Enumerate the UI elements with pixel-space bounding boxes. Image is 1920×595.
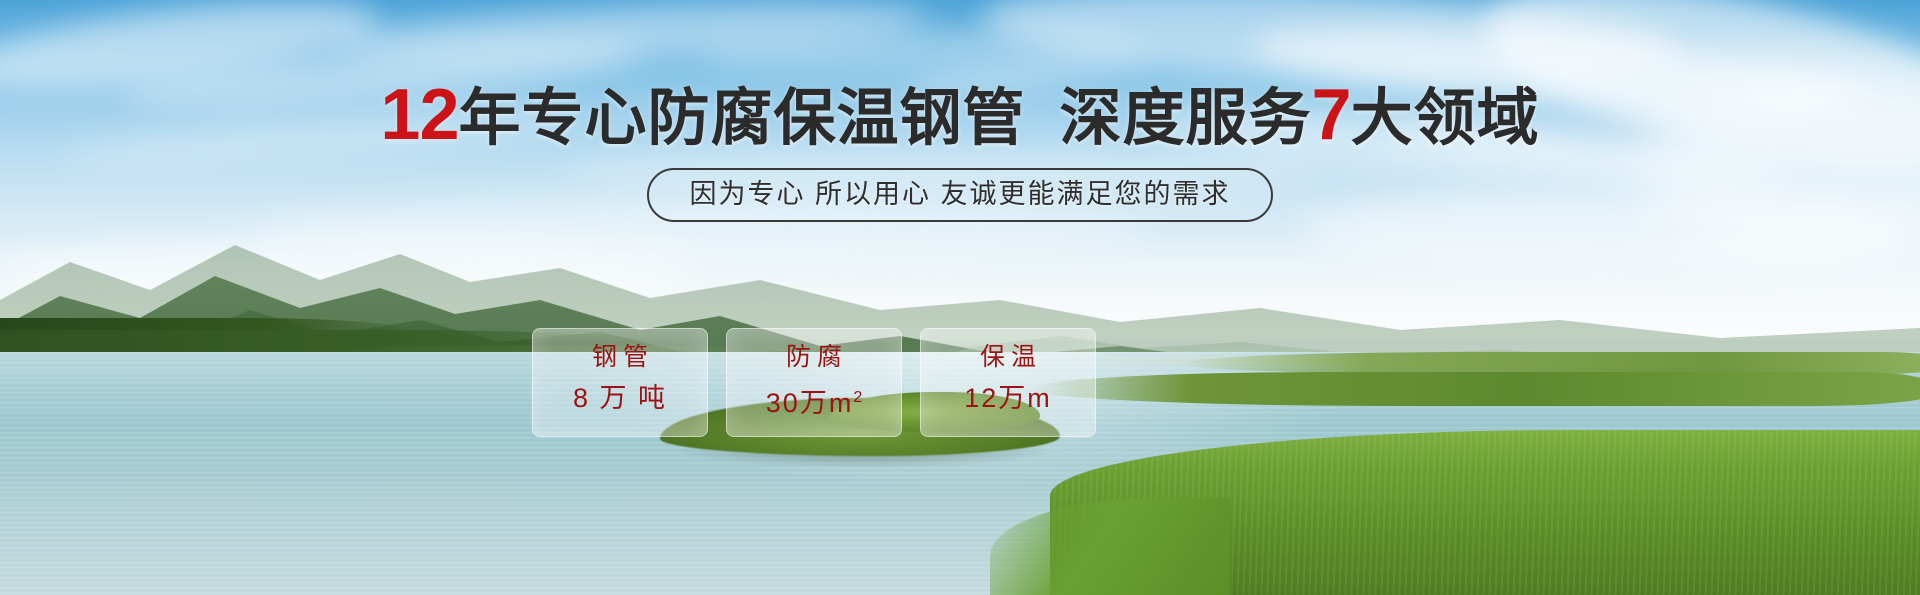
stat-card: 钢管 8 万 吨 [532, 328, 708, 437]
headline-service-text: 深度服务 [1060, 84, 1312, 153]
stat-card-value: 12万m [931, 383, 1085, 413]
marsh-strip-far [1180, 352, 1920, 374]
stat-card-value: 30万m2 [737, 383, 891, 418]
subtitle-container: 因为专心 所以用心 友诚更能满足您的需求 [0, 168, 1920, 222]
promo-banner: 12年专心防腐保温钢管深度服务7大领域 因为专心 所以用心 友诚更能满足您的需求… [0, 0, 1920, 595]
stat-card-value-text: 30万m [766, 388, 854, 418]
stat-card-value-exponent: 2 [853, 389, 862, 406]
stat-card-value: 8 万 吨 [543, 383, 697, 413]
stat-cards: 钢管 8 万 吨 防腐 30万m2 保温 12万m [532, 328, 1096, 437]
subtitle-pill: 因为专心 所以用心 友诚更能满足您的需求 [647, 168, 1272, 222]
stat-card-value-text: 12万m [964, 383, 1052, 413]
stat-card-value-text: 8 万 吨 [573, 383, 667, 413]
stat-card-title: 保温 [931, 343, 1085, 371]
headline-tail-text: 大领域 [1351, 84, 1540, 153]
marsh-strip [1030, 372, 1920, 406]
headline: 12年专心防腐保温钢管深度服务7大领域 [0, 82, 1920, 152]
stat-card: 保温 12万m [920, 328, 1096, 437]
stat-card-title: 钢管 [543, 343, 697, 371]
headline-years-number: 12 [380, 75, 458, 155]
stat-card-title: 防腐 [737, 343, 891, 371]
headline-fields-number: 7 [1312, 75, 1351, 155]
headline-main-text: 年专心防腐保温钢管 [459, 84, 1026, 153]
stat-card: 防腐 30万m2 [726, 328, 902, 437]
